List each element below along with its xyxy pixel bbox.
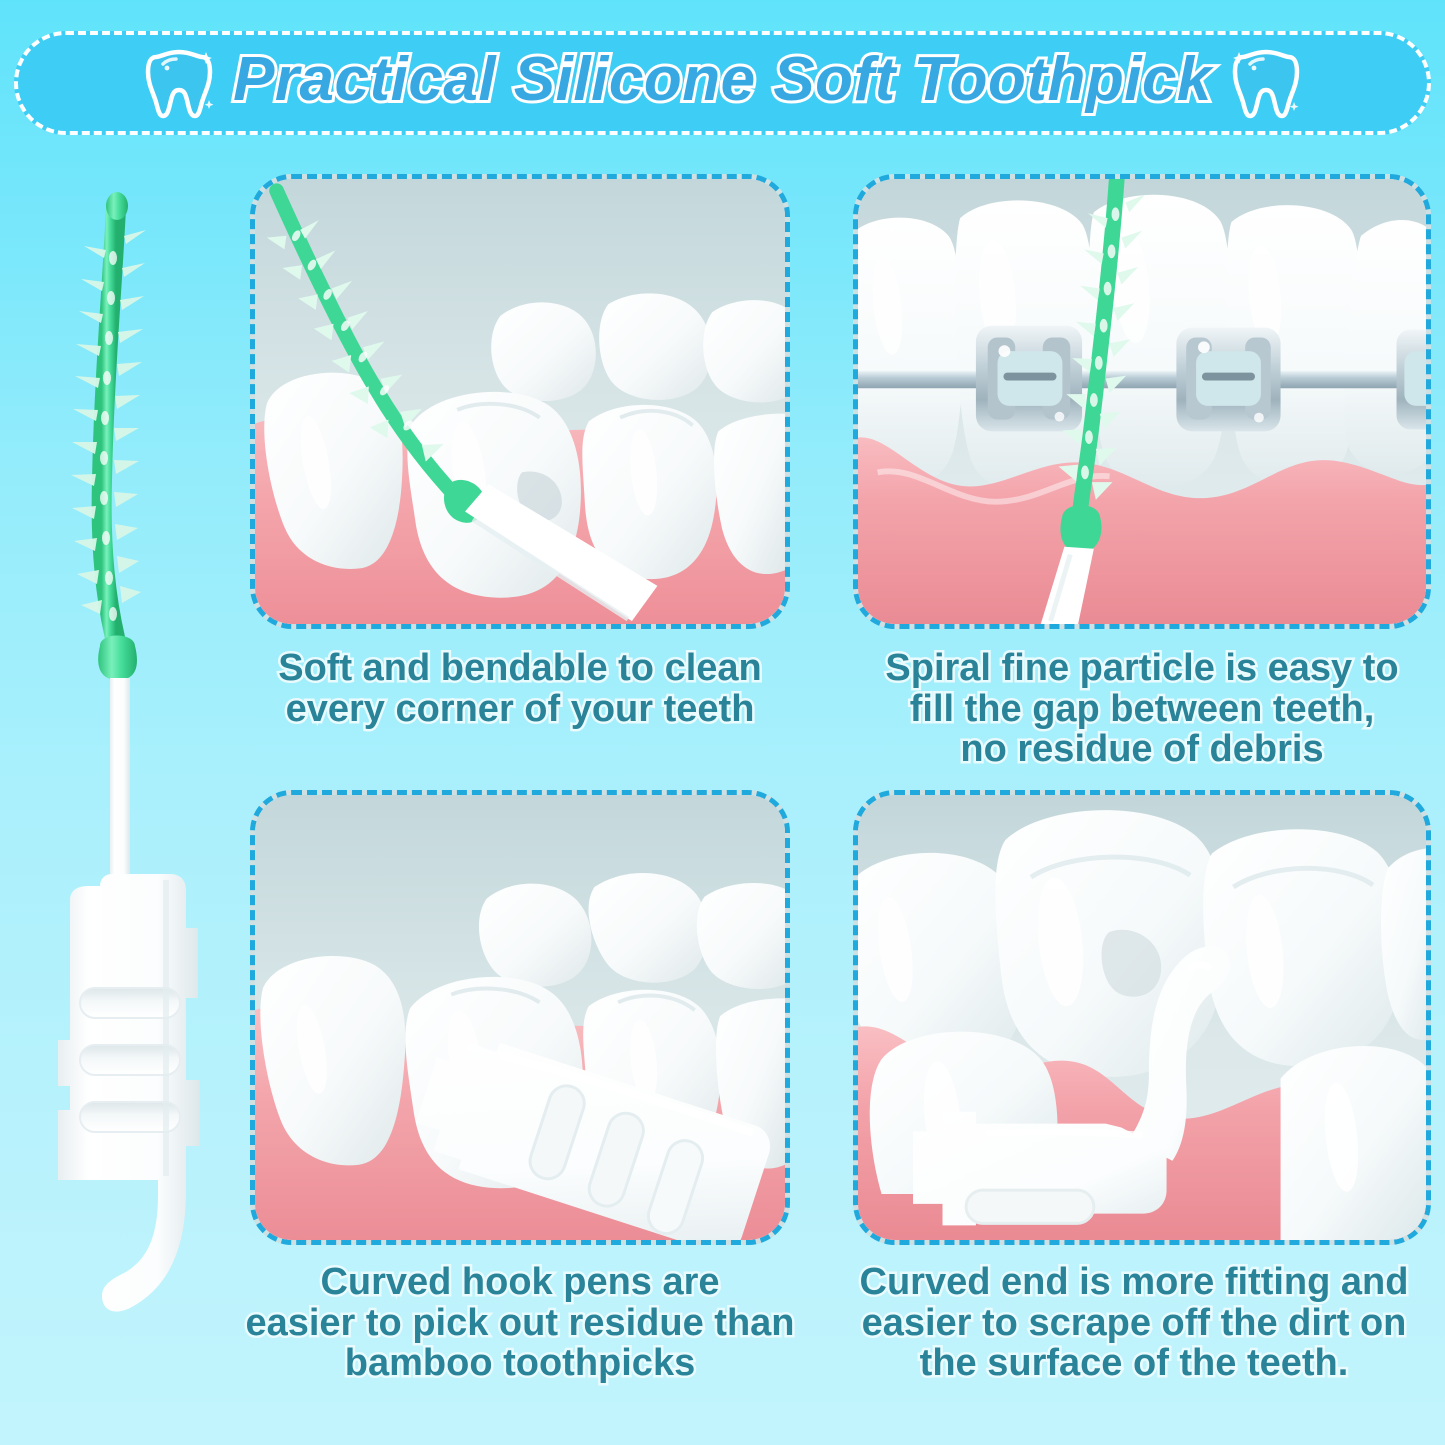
tooth-icon [1230, 44, 1302, 122]
scene-pick-with-braces [858, 179, 1426, 624]
caption-panel-2: Spiral fine particle is easy to fill the… [845, 648, 1439, 770]
caption-line: Soft and bendable to clean [240, 648, 800, 689]
product-toothpick-image [18, 180, 233, 1320]
caption-line: no residue of debris [845, 729, 1439, 770]
scene-pick-cleaning-molars [255, 179, 785, 624]
brace-bracket [976, 326, 1082, 432]
brace-bracket [1397, 330, 1426, 430]
caption-line: bamboo toothpicks [218, 1343, 822, 1384]
caption-line: every corner of your teeth [240, 689, 800, 730]
caption-line: the surface of the teeth. [832, 1343, 1436, 1384]
feature-panel-2 [853, 174, 1431, 629]
caption-panel-4: Curved end is more fitting and easier to… [832, 1262, 1436, 1384]
caption-line: fill the gap between teeth, [845, 689, 1439, 730]
brace-bracket [1176, 328, 1280, 432]
scene-handle-grip-between-teeth [255, 795, 785, 1240]
feature-panel-1 [250, 174, 790, 629]
handle-body [58, 874, 200, 1312]
caption-line: easier to scrape off the dirt on [832, 1303, 1436, 1344]
bristle-shaft [71, 192, 146, 680]
caption-line: Curved end is more fitting and [832, 1262, 1436, 1303]
caption-panel-1: Soft and bendable to clean every corner … [240, 648, 800, 729]
feature-panel-3 [250, 790, 790, 1245]
infographic-page: Practical Silicone Soft Toothpick [0, 0, 1445, 1445]
page-title: Practical Silicone Soft Toothpick [233, 49, 1212, 117]
tooth-icon [143, 44, 215, 122]
feature-panel-4 [853, 790, 1431, 1245]
scene-curved-hook-scraping [858, 795, 1426, 1240]
caption-line: easier to pick out residue than [218, 1303, 822, 1344]
caption-line: Spiral fine particle is easy to [845, 648, 1439, 689]
caption-line: Curved hook pens are [218, 1262, 822, 1303]
caption-panel-3: Curved hook pens are easier to pick out … [218, 1262, 822, 1384]
header-banner: Practical Silicone Soft Toothpick [14, 31, 1431, 135]
